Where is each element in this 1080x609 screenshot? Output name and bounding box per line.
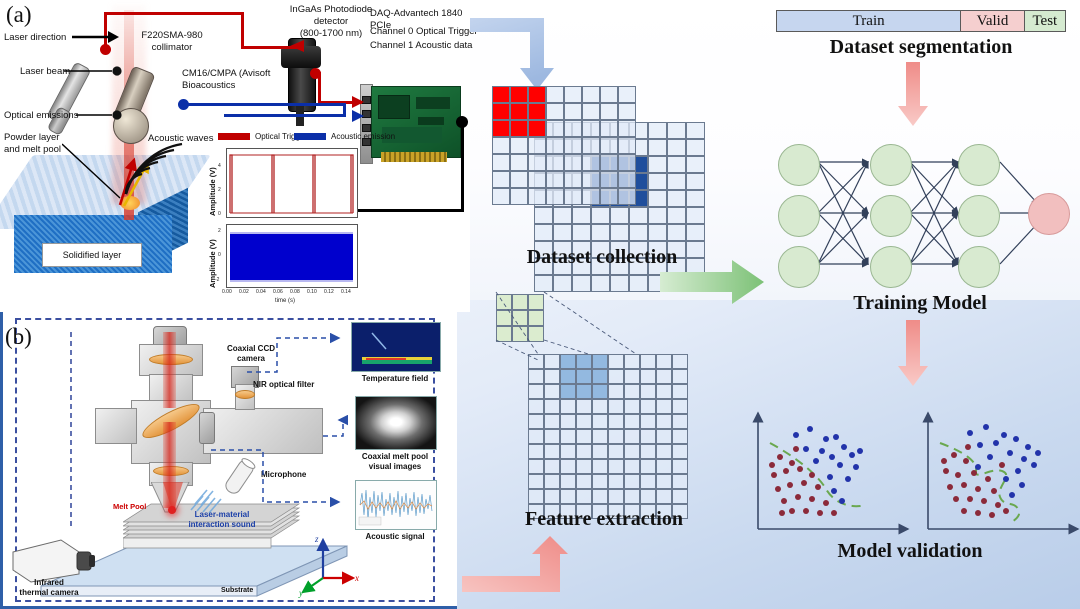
grid-cell [591,224,610,241]
grid-cell [546,154,564,171]
infrared-camera-label: Infrared thermal camera [7,578,91,598]
grid-cell [686,207,705,224]
grid-cell [510,188,528,205]
training-model-caption: Training Model [790,292,1050,315]
grid-cell [686,190,705,207]
wire-red-node-collimator [100,44,111,55]
legend-swatch-acoustic [294,133,326,140]
grid-cell [629,224,648,241]
optical-emissions-leader [76,108,124,122]
acoustic-ytick-neg2: -2 [215,277,219,283]
grid-cell [492,137,510,154]
laser-direction-arrow [72,30,120,44]
grid-cell [648,122,667,139]
optical-ytick-0: 0 [218,211,221,217]
grid-cell [648,156,667,173]
grid-cell [656,444,672,459]
grid-cell [686,139,705,156]
thumbnail-melt-pool-caption: Coaxial melt pool visual images [347,452,443,472]
grid-cell [672,354,688,369]
grid-cell [528,103,546,120]
model-validation-caption: Model validation [780,540,1040,563]
grid-cell [528,154,546,171]
grid-cell [648,139,667,156]
grid-cell [528,384,544,399]
grid-cell [492,86,510,103]
wire-black-down [461,122,464,212]
segment-valid[interactable]: Valid [961,11,1024,31]
grid-cell [576,459,592,474]
grid-cell [608,414,624,429]
grid-cell [610,224,629,241]
grid-cell [608,474,624,489]
thumbnail-acoustic-signal [355,480,437,530]
acoustic-signal-trace [227,225,357,287]
nn-node-l2-2 [870,195,912,237]
grid-cell [528,489,544,504]
grid-cell [640,459,656,474]
grid-cell [564,137,582,154]
grid-cell [576,489,592,504]
grid-cell [640,474,656,489]
grid-cell [582,154,600,171]
grid-cell [582,188,600,205]
grid-cell [591,207,610,224]
nn-node-l3-3 [958,246,1000,288]
grid-cell [672,459,688,474]
xaxis-label: time (s) [275,298,295,304]
thumbnail-temperature-field [351,322,441,372]
grid-cell [492,120,510,137]
nn-node-l3-1 [958,144,1000,186]
grid-cell [667,122,686,139]
grid-cell [492,154,510,171]
nn-node-l1-2 [778,195,820,237]
grid-cell [544,429,560,444]
grid-cell [576,399,592,414]
grid-cell [564,86,582,103]
grid-cell [560,444,576,459]
arrow-validation-to-features [462,536,588,600]
dataset-segmentation-bar: Train Valid Test [776,10,1066,32]
acoustic-signal-plot [226,224,358,288]
grid-cell [528,399,544,414]
grid-cell [528,188,546,205]
melt-pool-label: Melt Pool [113,502,146,512]
laser-beam-label: Laser beam [20,66,70,78]
nn-node-l2-1 [870,144,912,186]
optical-emissions-label: Optical emissions [4,110,78,122]
nn-node-l2-3 [870,246,912,288]
grid-cell [624,444,640,459]
grid-cell [640,414,656,429]
grid-cell [648,173,667,190]
grid-cell [544,474,560,489]
panel-a: (a) Solidified layer [0,0,470,312]
validation-plot-linear [748,405,918,545]
substrate-label: Substrate [221,586,253,596]
grid-cell [510,137,528,154]
grid-cell [672,399,688,414]
validation-plot-nonlinear [918,405,1080,545]
grid-cell [686,224,705,241]
grid-cell [564,154,582,171]
grid-cell [648,224,667,241]
grid-cell [672,429,688,444]
powder-layer-leader [62,142,132,204]
grid-cell [672,384,688,399]
grid-cell [576,474,592,489]
grid-cell [560,399,576,414]
grid-cell [672,414,688,429]
grid-cell [686,156,705,173]
grid-cell [640,429,656,444]
acoustic-ytick-0: 0 [218,252,221,258]
grid-cell [672,489,688,504]
grid-cell [560,414,576,429]
solidified-layer-label: Solidified layer [42,243,142,267]
laser-beam-upper [163,332,176,408]
grid-cell [528,474,544,489]
grid-cell [544,459,560,474]
grid-cell [672,369,688,384]
optical-ytick-2: 2 [218,187,221,193]
grid-cell [510,171,528,188]
grid-cell [608,489,624,504]
arrow-model-to-validation [896,320,930,388]
grid-cell [576,414,592,429]
grid-cell [656,399,672,414]
grid-cell [510,86,528,103]
wire-red-pd-down [318,72,321,104]
grid-cell [624,489,640,504]
grid-cell [592,384,608,399]
legend-label-acoustic: Acoustic emission [331,132,395,141]
grid-cell [610,207,629,224]
grid-cell [546,86,564,103]
grid-cell [546,188,564,205]
panel-b: (b) Substrate [0,312,457,609]
microphone-label: CM16/CMPA (Avisoft Bioacoustics [182,68,294,92]
collimator-label: F220SMA-980 collimator [124,30,220,54]
xtick-2: 0.04 [256,289,266,295]
nn-node-output [1028,193,1070,235]
powder-layer-label: Powder layer and melt pool [4,132,61,156]
wire-blue-bottom [224,114,346,117]
grid-cell [600,103,618,120]
grid-cell [592,444,608,459]
grid-cell [544,384,560,399]
grid-cell [624,459,640,474]
grid-cell [582,103,600,120]
grid-cell [592,429,608,444]
grid-cell [656,459,672,474]
grid-cell [553,207,572,224]
wire-blue-arrowhead-daq [352,108,366,124]
grid-cell [608,459,624,474]
grid-cell [510,154,528,171]
grid-cell [546,103,564,120]
grid-cell [667,139,686,156]
grid-cell [576,429,592,444]
grid-cell [667,190,686,207]
grid-cell [582,120,600,137]
grid-cell [686,122,705,139]
grid-cell [600,120,618,137]
acoustic-waves-label: Acoustic waves [148,133,213,145]
dataset-segmentation-caption: Dataset segmentation [776,36,1066,59]
grid-cell [553,224,572,241]
grid-cell [560,459,576,474]
left-arm-block [95,408,137,444]
grid-cell [600,171,618,188]
figure-root: (a) Solidified layer [0,0,1080,609]
segment-test[interactable]: Test [1025,11,1065,31]
grid-cell [528,86,546,103]
grid-cell [667,224,686,241]
nn-node-l3-2 [958,195,1000,237]
grid-cell [592,474,608,489]
nn-node-l1-3 [778,246,820,288]
grid-cell [510,103,528,120]
grid-cell [656,489,672,504]
grid-cell [600,154,618,171]
grid-cell [667,207,686,224]
svg-text:y: y [298,588,303,598]
grid-cell [492,103,510,120]
grid-cell [624,399,640,414]
grid-cell [592,459,608,474]
svg-text:z: z [314,534,319,544]
grid-cell [564,188,582,205]
legend-acoustic-emission: Acoustic emission [294,132,395,141]
grid-cell [648,190,667,207]
grid-cell [528,414,544,429]
grid-cell [544,414,560,429]
arrow-collection-to-model [660,258,770,310]
daq-gold-fingers [381,152,447,162]
xtick-5: 0.10 [307,289,317,295]
grid-cell [618,120,636,137]
arrow-segmentation-to-model [896,62,930,128]
xtick-6: 0.12 [324,289,334,295]
xtick-0: 0.00 [222,289,232,295]
grid-cell [544,399,560,414]
xtick-7: 0.14 [341,289,351,295]
grid-cell [528,120,546,137]
wire-blue-right [186,103,346,106]
grid-cell [534,207,553,224]
grid-cell [656,474,672,489]
grid-cell [656,414,672,429]
grid-cell [582,86,600,103]
grid-cell [560,429,576,444]
grid-cell [618,137,636,154]
grid-cell [640,444,656,459]
daq-pcb [371,86,461,158]
grid-cell [600,137,618,154]
daq-channel1-label: Channel 1 Acoustic data [370,40,480,52]
nn-node-l1-1 [778,144,820,186]
melt-pool-spot [168,506,176,514]
segment-train[interactable]: Train [777,11,961,31]
grid-cell [544,489,560,504]
daq-port-2 [362,124,371,132]
svg-text:x: x [354,573,359,583]
grid-cell [592,399,608,414]
xtick-3: 0.06 [273,289,283,295]
wire-red-top [104,12,244,15]
optical-trigger-trace [227,149,357,217]
grid-cell [608,399,624,414]
grid-cell [600,86,618,103]
grid-cell [510,120,528,137]
feature-extraction-caption: Feature extraction [470,508,738,531]
arrow-into-dataset-collection [470,18,580,94]
grid-cell [528,444,544,459]
grid-cell [528,137,546,154]
grid-cell [624,429,640,444]
grid-cell [656,429,672,444]
grid-cell [608,384,624,399]
grid-cell [624,474,640,489]
grid-cell [672,474,688,489]
grid-cell [640,489,656,504]
legend-swatch-optical [218,133,250,140]
wire-red-arrowhead-pd [290,38,310,54]
grid-cell [667,173,686,190]
grid-cell [629,207,648,224]
xtick-4: 0.08 [290,289,300,295]
grid-cell [686,173,705,190]
grid-cell [576,384,592,399]
optical-trigger-plot [226,148,358,218]
grid-cell [618,188,636,205]
grid-cell [546,120,564,137]
grid-cell [592,414,608,429]
kernel-projection-lines [492,290,672,380]
grid-cell [624,414,640,429]
panel-a-tag: (a) [6,2,32,28]
grid-cell [656,384,672,399]
grid-cell [624,384,640,399]
grid-cell [528,429,544,444]
grid-cell [582,171,600,188]
grid-cell [564,103,582,120]
grid-cell [546,171,564,188]
grid-cell [534,224,553,241]
grid-cell [618,86,636,103]
grid-cell [528,171,546,188]
grid-cell [528,459,544,474]
grid-cell [640,384,656,399]
optical-plot-ylabel: Amplitude (V) [208,167,217,216]
grid-cell [576,444,592,459]
grid-cell [672,444,688,459]
grid-cell [648,207,667,224]
acoustic-ytick-2: 2 [218,228,221,234]
xtick-1: 0.02 [239,289,249,295]
grid-cell [560,489,576,504]
grid-cell [544,444,560,459]
photodiode-label: InGaAs Photodiode detector (800-1700 nm) [278,4,384,40]
grid-cell [618,171,636,188]
grid-cell [492,188,510,205]
grid-cell [608,444,624,459]
grid-cell [560,474,576,489]
grid-cell [640,399,656,414]
grid-cell [492,171,510,188]
laser-direction-label: Laser direction [4,32,66,44]
grid-cell [600,188,618,205]
wire-red-down-right [241,12,244,48]
grid-cell [667,156,686,173]
infrared-camera-sightline [9,330,79,544]
thumbnail-melt-pool [355,396,437,450]
laser-beam-leader [64,64,124,78]
grid-cell [608,429,624,444]
grid-cell [572,224,591,241]
dataset-collection-front-grid [492,86,636,205]
grid-cell [564,120,582,137]
grid-cell [618,154,636,171]
grid-cell [560,384,576,399]
grid-cell [618,103,636,120]
coordinate-axes: z x y [295,534,365,598]
grid-cell [592,489,608,504]
grid-cell [572,207,591,224]
thumbnail-temperature-caption: Temperature field [349,374,441,384]
optical-ytick-4: 4 [218,163,221,169]
daq-channel0-label: Channel 0 Optical Trigger [370,26,480,38]
grid-cell [546,137,564,154]
grid-cell [564,171,582,188]
grid-cell [582,137,600,154]
